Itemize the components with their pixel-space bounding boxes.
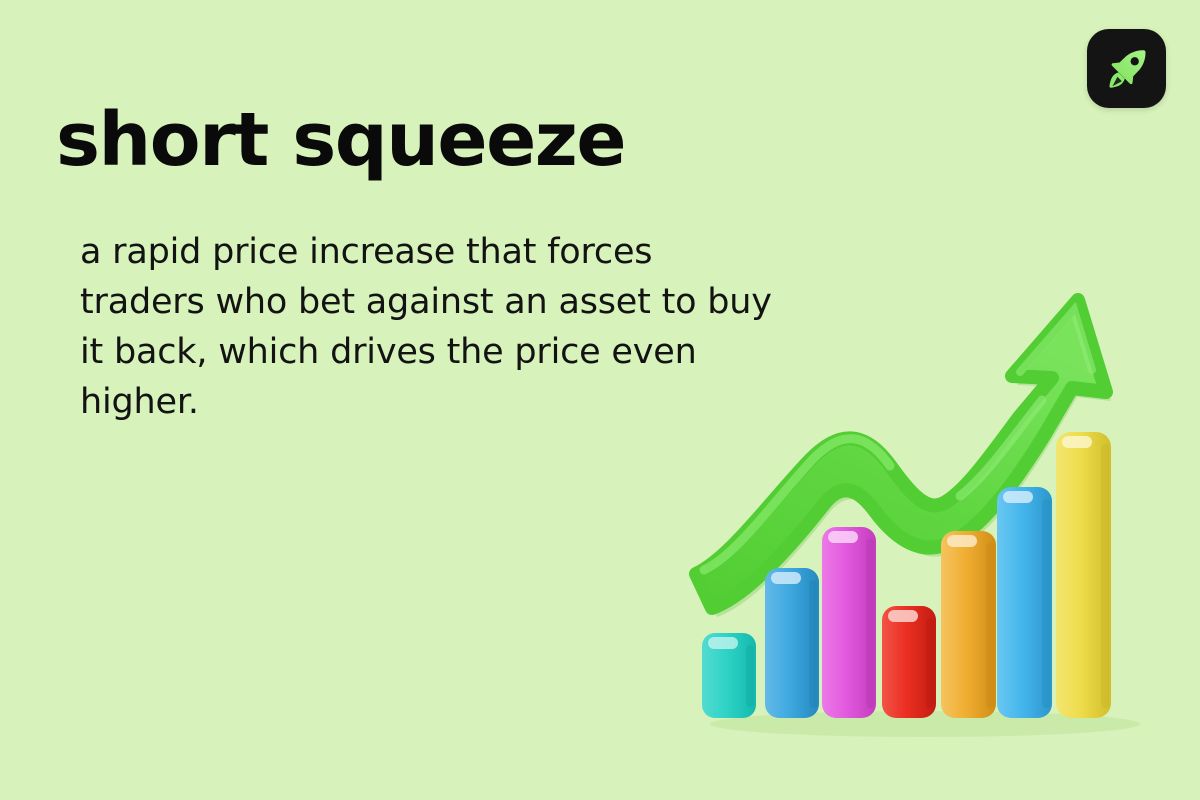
bar-5: [941, 531, 996, 718]
bar-4: [882, 606, 936, 718]
bar-1: [702, 633, 756, 718]
bar-6: [997, 487, 1052, 718]
rocket-icon: [1101, 43, 1153, 95]
bar-7: [1056, 432, 1111, 718]
bar-2: [765, 568, 819, 718]
growth-chart-illustration: [660, 260, 1160, 750]
definition-card: short squeeze a rapid price increase tha…: [0, 0, 1200, 800]
page-title: short squeeze: [56, 103, 625, 177]
brand-logo[interactable]: [1087, 29, 1166, 108]
bar-3: [822, 527, 876, 718]
